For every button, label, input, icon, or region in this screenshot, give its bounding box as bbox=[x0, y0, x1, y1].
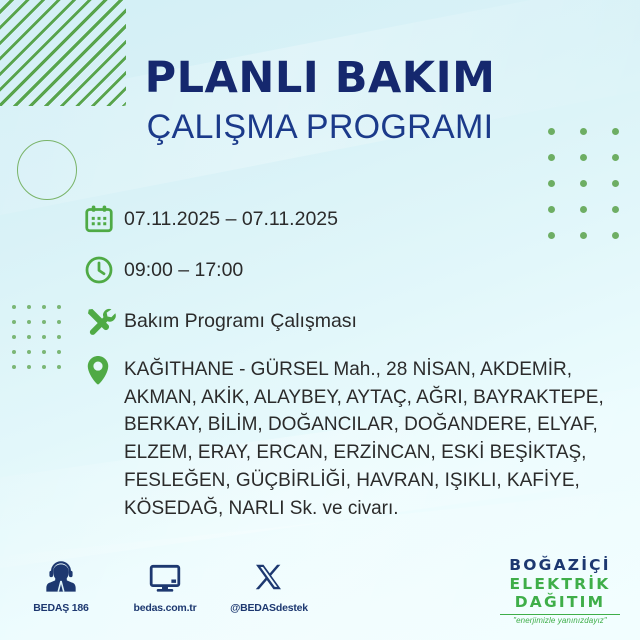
circle-outline-decoration bbox=[17, 140, 77, 200]
contact-website-label: bedas.com.tr bbox=[126, 602, 204, 614]
contact-x-account[interactable]: @BEDASdestek bbox=[230, 558, 308, 614]
contact-call-center-label: BEDAŞ 186 bbox=[22, 602, 100, 614]
company-logo-divider bbox=[500, 614, 620, 616]
contact-channels: BEDAŞ 186 bedas.com.tr bbox=[22, 558, 308, 614]
contact-call-center[interactable]: BEDAŞ 186 bbox=[22, 558, 100, 614]
info-row-work-type-text: Bakım Programı Çalışması bbox=[124, 302, 357, 336]
planned-maintenance-poster: PLANLI BAKIM ÇALIŞMA PROGRAMI 07.11.2025… bbox=[0, 0, 640, 640]
calendar-icon bbox=[84, 200, 124, 238]
company-logo-line3: DAĞITIM bbox=[498, 595, 622, 611]
info-list: 07.11.2025 – 07.11.2025 09:00 – 17:00 Ba… bbox=[84, 200, 624, 522]
info-row-address: KAĞITHANE - GÜRSEL Mah., 28 NİSAN, AKDEM… bbox=[84, 353, 624, 522]
info-row-time: 09:00 – 17:00 bbox=[84, 251, 624, 289]
tools-icon bbox=[84, 302, 124, 340]
monitor-icon bbox=[126, 558, 204, 598]
info-row-address-text: KAĞITHANE - GÜRSEL Mah., 28 NİSAN, AKDEM… bbox=[124, 353, 624, 522]
info-row-work-type: Bakım Programı Çalışması bbox=[84, 302, 624, 340]
company-logo-line2: ELEKTRİK bbox=[498, 577, 622, 593]
headset-agent-icon bbox=[22, 558, 100, 598]
info-row-time-text: 09:00 – 17:00 bbox=[124, 251, 243, 285]
dot-grid-left-decoration bbox=[12, 305, 72, 380]
company-tagline: "enerjimizle yanınızdayız" bbox=[498, 617, 622, 625]
page-title: PLANLI BAKIM bbox=[0, 56, 640, 101]
location-pin-icon bbox=[84, 353, 124, 389]
contact-website[interactable]: bedas.com.tr bbox=[126, 558, 204, 614]
clock-icon bbox=[84, 251, 124, 289]
contact-x-account-label: @BEDASdestek bbox=[230, 602, 308, 614]
page-subtitle: ÇALIŞMA PROGRAMI bbox=[0, 107, 640, 148]
x-twitter-icon bbox=[230, 558, 308, 598]
info-row-date: 07.11.2025 – 07.11.2025 bbox=[84, 200, 624, 238]
company-logo-line1: BOĞAZİÇİ bbox=[498, 558, 622, 574]
poster-header: PLANLI BAKIM ÇALIŞMA PROGRAMI bbox=[0, 56, 640, 148]
info-row-date-text: 07.11.2025 – 07.11.2025 bbox=[124, 200, 338, 234]
company-logo: BOĞAZİÇİ ELEKTRİK DAĞITIM "enerjimizle y… bbox=[498, 558, 622, 625]
poster-footer: BEDAŞ 186 bedas.com.tr bbox=[0, 548, 640, 640]
